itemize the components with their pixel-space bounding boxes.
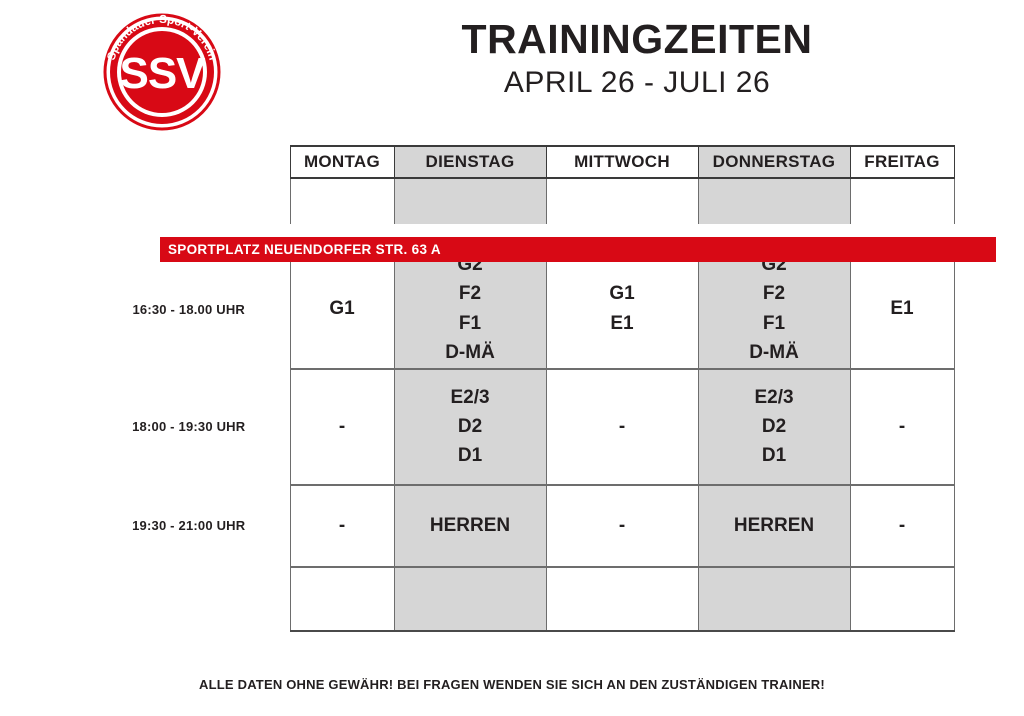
location-banner-row: SPORTPLATZ NEUENDORFER STR. 63 A bbox=[88, 224, 954, 250]
entry: HERREN bbox=[699, 511, 850, 540]
entry: - bbox=[851, 511, 954, 540]
page-header: Spandauer Sport-Verein SSV TRAININGZEITE… bbox=[0, 0, 1024, 140]
spacer-cell-dienstag bbox=[394, 178, 546, 224]
trailing-empty-row bbox=[88, 567, 954, 631]
column-header-montag: MONTAG bbox=[290, 146, 394, 178]
tail-cell-freitag bbox=[850, 567, 954, 631]
row-time-1: 16:30 - 18.00 UHR bbox=[88, 250, 290, 369]
table-row: 19:30 - 21:00 UHR - HERREN - HERREN - bbox=[88, 485, 954, 567]
spacer-cell-donnerstag bbox=[698, 178, 850, 224]
spacer-row bbox=[88, 178, 954, 224]
spacer-time-cell bbox=[88, 178, 290, 224]
location-banner: SPORTPLATZ NEUENDORFER STR. 63 A bbox=[160, 237, 996, 262]
entry: - bbox=[291, 412, 394, 441]
entry: E1 bbox=[851, 294, 954, 323]
entry: F2 bbox=[395, 279, 546, 308]
page-footer: ALLE DATEN OHNE GEWÄHR! BEI FRAGEN WENDE… bbox=[0, 676, 1024, 694]
entry: D2 bbox=[395, 412, 546, 441]
page-title: TRAININGZEITEN bbox=[250, 18, 1024, 61]
svg-text:SSV: SSV bbox=[119, 49, 206, 98]
column-header-mittwoch: MITTWOCH bbox=[546, 146, 698, 178]
club-logo: Spandauer Sport-Verein SSV bbox=[95, 8, 229, 132]
table-header-row: MONTAG DIENSTAG MITTWOCH DONNERSTAG FREI… bbox=[88, 146, 954, 178]
title-block: TRAININGZEITEN APRIL 26 - JULI 26 bbox=[250, 18, 1024, 101]
table-row: 16:30 - 18.00 UHR G1 G2 F2 F1 D-MÄ G1 E1… bbox=[88, 250, 954, 369]
cell-freitag-2: - bbox=[850, 369, 954, 485]
table-row: 18:00 - 19:30 UHR - E2/3 D2 D1 - E2/3 D2… bbox=[88, 369, 954, 485]
disclaimer-note: ALLE DATEN OHNE GEWÄHR! BEI FRAGEN WENDE… bbox=[199, 677, 825, 692]
entry: E2/3 bbox=[395, 383, 546, 412]
cell-dienstag-2: E2/3 D2 D1 bbox=[394, 369, 546, 485]
entry: - bbox=[547, 511, 698, 540]
spacer-cell-freitag bbox=[850, 178, 954, 224]
schedule-table: MONTAG DIENSTAG MITTWOCH DONNERSTAG FREI… bbox=[88, 145, 955, 632]
spacer-cell-montag bbox=[290, 178, 394, 224]
entry: HERREN bbox=[395, 511, 546, 540]
location-banner-cell: SPORTPLATZ NEUENDORFER STR. 63 A bbox=[88, 224, 954, 250]
entry: D2 bbox=[699, 412, 850, 441]
row-time-3: 19:30 - 21:00 UHR bbox=[88, 485, 290, 567]
cell-montag-3: - bbox=[290, 485, 394, 567]
cell-donnerstag-3: HERREN bbox=[698, 485, 850, 567]
spacer-cell-mittwoch bbox=[546, 178, 698, 224]
cell-donnerstag-1: G2 F2 F1 D-MÄ bbox=[698, 250, 850, 369]
entry: E1 bbox=[547, 309, 698, 338]
column-header-dienstag: DIENSTAG bbox=[394, 146, 546, 178]
tail-cell-donnerstag bbox=[698, 567, 850, 631]
entry: F1 bbox=[699, 309, 850, 338]
tail-cell-dienstag bbox=[394, 567, 546, 631]
row-time-2: 18:00 - 19:30 UHR bbox=[88, 369, 290, 485]
page-subtitle: APRIL 26 - JULI 26 bbox=[250, 65, 1024, 101]
entry: D-MÄ bbox=[699, 338, 850, 367]
cell-montag-2: - bbox=[290, 369, 394, 485]
column-header-time bbox=[88, 146, 290, 178]
schedule-area: MONTAG DIENSTAG MITTWOCH DONNERSTAG FREI… bbox=[0, 145, 1024, 632]
location-banner-text: SPORTPLATZ NEUENDORFER STR. 63 A bbox=[160, 242, 441, 257]
column-header-freitag: FREITAG bbox=[850, 146, 954, 178]
cell-montag-1: G1 bbox=[290, 250, 394, 369]
entry: G1 bbox=[547, 279, 698, 308]
entry: F2 bbox=[699, 279, 850, 308]
cell-freitag-3: - bbox=[850, 485, 954, 567]
column-header-donnerstag: DONNERSTAG bbox=[698, 146, 850, 178]
entry: - bbox=[547, 412, 698, 441]
tail-time-cell bbox=[88, 567, 290, 631]
cell-dienstag-3: HERREN bbox=[394, 485, 546, 567]
tail-cell-montag bbox=[290, 567, 394, 631]
entry: - bbox=[291, 511, 394, 540]
entry: - bbox=[851, 412, 954, 441]
entry: D1 bbox=[699, 441, 850, 470]
tail-cell-mittwoch bbox=[546, 567, 698, 631]
cell-dienstag-1: G2 F2 F1 D-MÄ bbox=[394, 250, 546, 369]
cell-mittwoch-2: - bbox=[546, 369, 698, 485]
cell-mittwoch-1: G1 E1 bbox=[546, 250, 698, 369]
cell-donnerstag-2: E2/3 D2 D1 bbox=[698, 369, 850, 485]
entry: F1 bbox=[395, 309, 546, 338]
entry: G1 bbox=[291, 294, 394, 323]
entry: D-MÄ bbox=[395, 338, 546, 367]
entry: D1 bbox=[395, 441, 546, 470]
cell-freitag-1: E1 bbox=[850, 250, 954, 369]
entry: E2/3 bbox=[699, 383, 850, 412]
cell-mittwoch-3: - bbox=[546, 485, 698, 567]
